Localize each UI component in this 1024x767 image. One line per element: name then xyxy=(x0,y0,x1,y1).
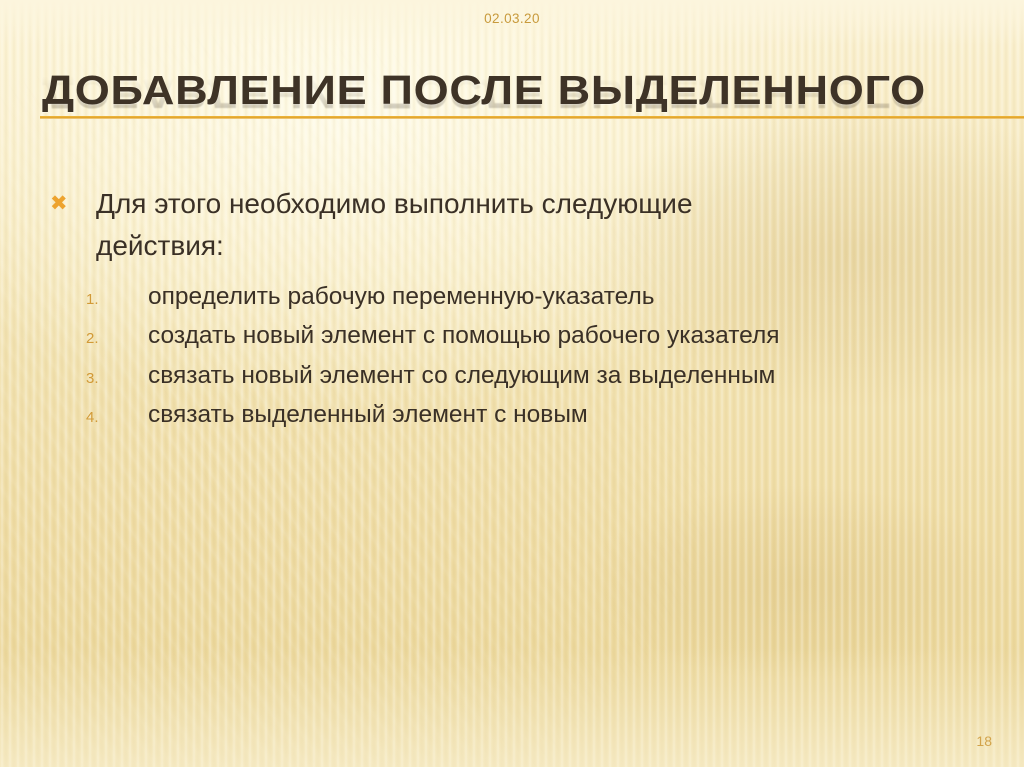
slide-date: 02.03.20 xyxy=(0,11,1024,26)
list-item: 2. создать новый элемент с помощью рабоч… xyxy=(0,322,1024,349)
numbered-steps-list: 1. определить рабочую переменную-указате… xyxy=(0,283,1024,429)
list-item-number: 1. xyxy=(86,292,148,307)
list-item: 4. связать выделенный элемент с новым xyxy=(0,401,1024,428)
list-item-text: определить рабочую переменную-указатель xyxy=(148,283,1024,310)
presentation-slide: 02.03.20 Добавление после выделенного До… xyxy=(0,0,1024,767)
list-item-text: создать новый элемент с помощью рабочего… xyxy=(148,322,1024,349)
list-item-number: 4. xyxy=(86,410,148,425)
page-title: Добавление после выделенного xyxy=(42,70,926,111)
list-item: 3. связать новый элемент со следующим за… xyxy=(0,362,1024,389)
slide-page-number: 18 xyxy=(976,733,992,749)
background-bottom-highlight xyxy=(0,647,1024,767)
slide-body: ✖ Для этого необходимо выполнить следующ… xyxy=(0,183,1024,441)
list-item-text: связать новый элемент со следующим за вы… xyxy=(148,362,1024,389)
lead-bullet-text: Для этого необходимо выполнить следующие… xyxy=(96,183,716,267)
title-divider-rule xyxy=(40,116,1024,119)
cross-bullet-icon: ✖ xyxy=(46,183,96,225)
lead-bullet-item: ✖ Для этого необходимо выполнить следующ… xyxy=(0,183,1024,267)
list-item-number: 2. xyxy=(86,331,148,346)
list-item-number: 3. xyxy=(86,371,148,386)
list-item: 1. определить рабочую переменную-указате… xyxy=(0,283,1024,310)
slide-title-block: Добавление после выделенного Добавление … xyxy=(42,70,982,180)
list-item-text: связать выделенный элемент с новым xyxy=(148,401,1024,428)
